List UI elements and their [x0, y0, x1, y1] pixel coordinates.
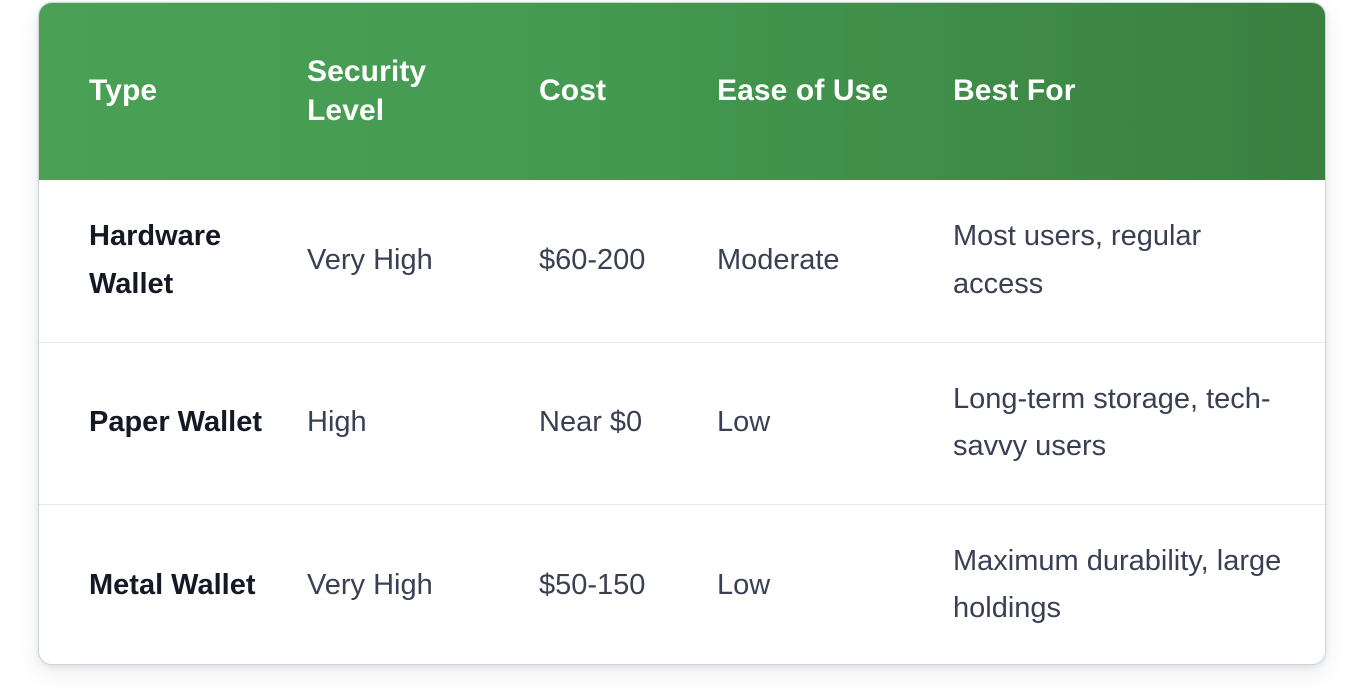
column-header-best-for-label: Best For: [953, 72, 1287, 110]
cell-best-for: Maximum durability, large holdings: [923, 504, 1326, 665]
column-header-cost[interactable]: Cost: [513, 3, 689, 180]
table-header: Type Security Level Cost Ease of Use Bes…: [39, 3, 1326, 180]
column-header-cost-label: Cost: [539, 72, 675, 110]
cell-cost: Near $0: [513, 342, 689, 504]
column-header-type[interactable]: Type: [39, 3, 279, 180]
column-header-ease-of-use-label: Ease of Use: [717, 72, 909, 110]
cell-ease-of-use: Low: [689, 342, 923, 504]
cell-ease-of-use: Moderate: [689, 180, 923, 342]
page-root: Type Security Level Cost Ease of Use Bes…: [0, 0, 1348, 691]
cell-security-level: Very High: [279, 180, 513, 342]
column-header-ease-of-use[interactable]: Ease of Use: [689, 3, 923, 180]
table-header-row: Type Security Level Cost Ease of Use Bes…: [39, 3, 1326, 180]
cell-ease-of-use: Low: [689, 504, 923, 665]
column-header-best-for[interactable]: Best For: [923, 3, 1326, 180]
cell-best-for: Most users, regular access: [923, 180, 1326, 342]
cell-type: Hardware Wallet: [39, 180, 279, 342]
table-row: Paper Wallet High Near $0 Low Long-term …: [39, 342, 1326, 504]
wallet-comparison-table: Type Security Level Cost Ease of Use Bes…: [39, 3, 1326, 665]
cell-type: Paper Wallet: [39, 342, 279, 504]
column-header-type-label: Type: [89, 72, 265, 110]
column-header-security-level[interactable]: Security Level: [279, 3, 513, 180]
comparison-table-card: Type Security Level Cost Ease of Use Bes…: [38, 2, 1326, 665]
column-header-security-level-label: Security Level: [307, 53, 499, 130]
cell-type: Metal Wallet: [39, 504, 279, 665]
cell-best-for: Long-term storage, tech-savvy users: [923, 342, 1326, 504]
cell-cost: $60-200: [513, 180, 689, 342]
cell-security-level: High: [279, 342, 513, 504]
table-body: Hardware Wallet Very High $60-200 Modera…: [39, 180, 1326, 665]
cell-security-level: Very High: [279, 504, 513, 665]
table-row: Metal Wallet Very High $50-150 Low Maxim…: [39, 504, 1326, 665]
cell-cost: $50-150: [513, 504, 689, 665]
table-row: Hardware Wallet Very High $60-200 Modera…: [39, 180, 1326, 342]
